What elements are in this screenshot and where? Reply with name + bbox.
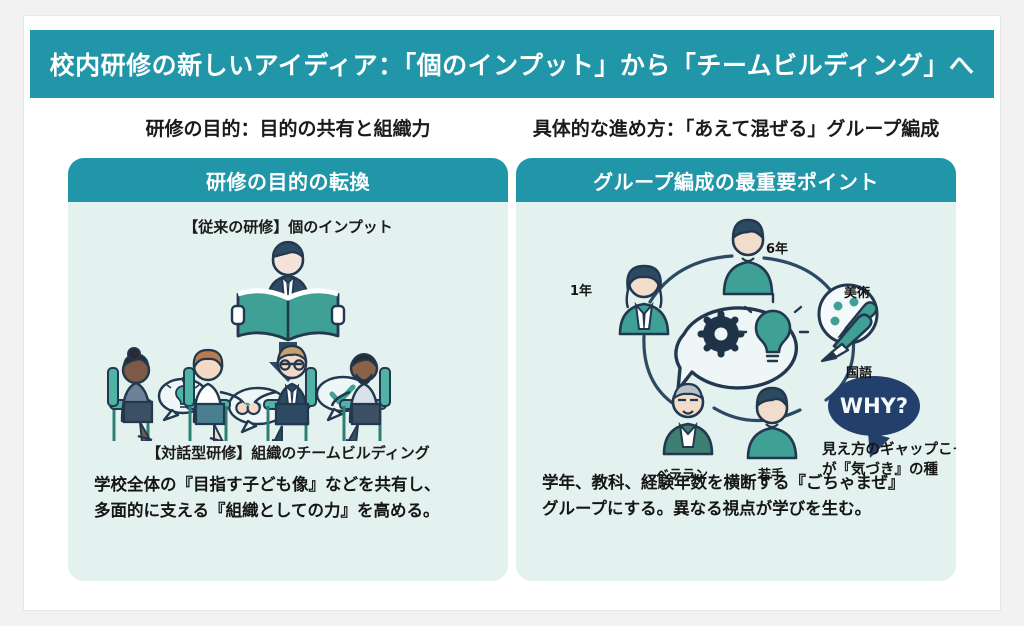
gear-icon bbox=[701, 314, 741, 354]
slide-title-bar: 校内研修の新しいアイディア：「個のインプット」から「チームビルディング」へ bbox=[30, 30, 994, 98]
why-bubble-label: WHY? bbox=[840, 394, 908, 418]
gear-lightbulb-bubble-icon bbox=[676, 294, 808, 390]
person-reading-book-icon bbox=[232, 242, 344, 340]
left-column: 研修の目的：目的の共有と組織力 研修の目的の転換 【従来の研修】個のインプット bbox=[68, 114, 508, 581]
left-body-line-1: 学校全体の『目指す子ども像』などを共有し、 bbox=[94, 472, 486, 498]
left-caption-top: 【従来の研修】個のインプット bbox=[68, 216, 508, 237]
left-illustration bbox=[68, 236, 508, 441]
right-card-body: 1年 6年 bbox=[516, 202, 956, 581]
label-6nen: 6年 bbox=[766, 238, 788, 257]
label-bijutsu: 美術 bbox=[844, 282, 870, 301]
slide: 校内研修の新しいアイディア：「個のインプット」から「チームビルディング」へ 研修… bbox=[24, 16, 1000, 610]
page-background: 校内研修の新しいアイディア：「個のインプット」から「チームビルディング」へ 研修… bbox=[0, 0, 1024, 626]
left-card-header: 研修の目的の転換 bbox=[68, 158, 508, 202]
label-kokugo: 国語 bbox=[846, 362, 872, 381]
left-card-body: 【従来の研修】個のインプット bbox=[68, 202, 508, 581]
left-body-line-2: 多面的に支える『組織としての力』を高める。 bbox=[94, 498, 486, 524]
right-body-line-2: グループにする。異なる視点が学びを生む。 bbox=[542, 496, 936, 522]
member-icon-1nen bbox=[620, 266, 668, 334]
left-section-heading: 研修の目的：目的の共有と組織力 bbox=[68, 114, 508, 144]
right-card-header-label: グループ編成の最重要ポイント bbox=[593, 166, 879, 195]
right-body-line-1: 学年、教科、経験年数を横断する『ごちゃまぜ』 bbox=[542, 470, 936, 496]
right-section-heading: 具体的な進め方：「あえて混ぜる」グループ編成 bbox=[516, 114, 956, 144]
left-card-header-label: 研修の目的の転換 bbox=[206, 166, 370, 195]
group-composition-diagram: 1年 6年 bbox=[516, 210, 956, 462]
label-1nen: 1年 bbox=[570, 280, 592, 299]
right-column: 具体的な進め方：「あえて混ぜる」グループ編成 グループ編成の最重要ポイント bbox=[516, 114, 956, 581]
left-body-copy: 学校全体の『目指す子ども像』などを共有し、 多面的に支える『組織としての力』を高… bbox=[94, 472, 486, 523]
member-icon-veteran bbox=[664, 384, 712, 454]
right-card: グループ編成の最重要ポイント bbox=[516, 158, 956, 581]
page-title: 校内研修の新しいアイディア：「個のインプット」から「チームビルディング」へ bbox=[50, 46, 975, 82]
member-icon-wakate bbox=[748, 388, 796, 458]
left-caption-bottom: 【対話型研修】組織のチームビルディング bbox=[68, 442, 508, 463]
left-card: 研修の目的の転換 【従来の研修】個のインプット bbox=[68, 158, 508, 581]
right-body-copy: 学年、教科、経験年数を横断する『ごちゃまぜ』 グループにする。異なる視点が学びを… bbox=[542, 470, 936, 521]
right-card-header: グループ編成の最重要ポイント bbox=[516, 158, 956, 202]
member-label-bijutsu: 美術 bbox=[888, 308, 914, 324]
gap-note-line-1: 見え方のギャップこそ bbox=[822, 440, 956, 460]
